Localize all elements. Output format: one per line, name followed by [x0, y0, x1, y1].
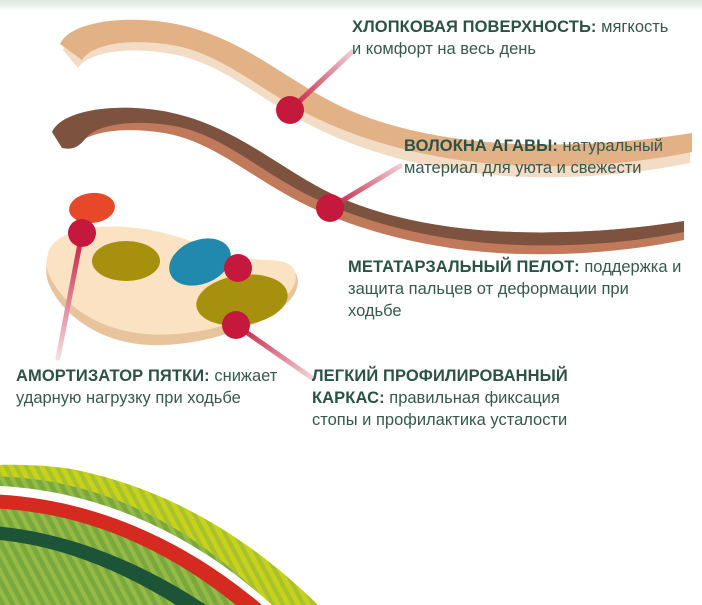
marker-dot-metatarsal[interactable]: [224, 254, 252, 282]
brand-ribbon-swoosh: [0, 461, 318, 605]
callout-agave-fibers: ВОЛОКНА АГАВЫ: натуральный материал для …: [404, 136, 684, 180]
infographic-page: ХЛОПКОВАЯ ПОВЕРХНОСТЬ: мягкость и комфор…: [0, 0, 702, 605]
callout-title: ХЛОПКОВАЯ ПОВЕРХНОСТЬ:: [352, 18, 597, 36]
callout-metatarsal-pad: МЕТАТАРЗАЛЬНЫЙ ПЕЛОТ: поддержка и защита…: [348, 257, 684, 322]
marker-dot-cotton[interactable]: [276, 96, 304, 124]
callout-title: МЕТАТАРЗАЛЬНЫЙ ПЕЛОТ:: [348, 258, 580, 276]
callout-light-profiled-frame: ЛЕГКИЙ ПРОФИЛИРОВАННЫЙ КАРКАС: правильна…: [312, 366, 602, 431]
marker-dot-heel[interactable]: [68, 219, 96, 247]
heel-support-pad: [92, 241, 160, 281]
callout-title: АМОРТИЗАТОР ПЯТКИ:: [16, 367, 210, 385]
callout-cotton-surface: ХЛОПКОВАЯ ПОВЕРХНОСТЬ: мягкость и комфор…: [352, 17, 682, 61]
heel-shock-absorber-pad: [68, 191, 117, 226]
callout-heel-shock-absorber: АМОРТИЗАТОР ПЯТКИ: снижает ударную нагру…: [16, 366, 316, 410]
callout-title: ВОЛОКНА АГАВЫ:: [404, 137, 558, 155]
marker-dot-frame[interactable]: [222, 311, 250, 339]
marker-dot-agave[interactable]: [316, 194, 344, 222]
